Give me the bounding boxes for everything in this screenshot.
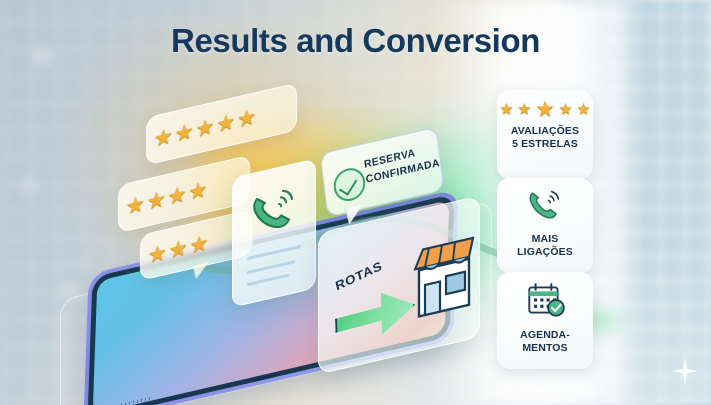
star-icon: ★ — [500, 102, 513, 117]
metric-line-2: 5 ESTRELAS — [497, 138, 593, 151]
metric-line-2: LIGAÇÕES — [497, 246, 593, 259]
metric-line-1: AVALIAÇÕES — [497, 125, 593, 138]
phone-call-icon — [247, 181, 301, 241]
star-icon: ★ — [196, 115, 215, 140]
star-icon: ★ — [168, 183, 187, 208]
slide-canvas: Results and Conversion ★ ★ ★ ★ ★ ★ ★ ★ ★… — [0, 0, 711, 405]
metric-line-1: MAIS — [497, 233, 593, 246]
star-icon: ★ — [577, 102, 590, 117]
reserva-text: RESERVA CONFIRMADA — [363, 141, 440, 188]
star-icon: ★ — [126, 193, 145, 218]
placeholder-line — [247, 274, 289, 287]
phone-call-icon — [525, 187, 565, 223]
calendar-check-icon — [523, 281, 567, 319]
star-icon: ★ — [154, 125, 173, 150]
metric-card-agendamentos[interactable]: AGENDA- MENTOS — [497, 272, 593, 369]
metric-line-1: AGENDA- — [497, 329, 593, 342]
rotas-label: ROTAS — [334, 258, 384, 293]
metric-line-2: MENTOS — [497, 342, 593, 355]
star-icon: ★ — [536, 99, 555, 120]
star-icon: ★ — [169, 236, 188, 261]
star-icon: ★ — [148, 241, 167, 266]
star-icon: ★ — [175, 120, 194, 145]
metric-label: MAIS LIGAÇÕES — [497, 233, 593, 259]
metric-label: AVALIAÇÕES 5 ESTRELAS — [497, 125, 593, 151]
star-icon: ★ — [559, 102, 572, 117]
phone-call-card — [232, 158, 316, 307]
star-icon: ★ — [237, 106, 256, 131]
star-icon: ★ — [216, 110, 235, 135]
star-icon: ★ — [188, 178, 207, 203]
metric-card-avaliacoes[interactable]: ★ ★ ★ ★ ★ AVALIAÇÕES 5 ESTRELAS — [497, 90, 593, 179]
metric-card-ligacoes[interactable]: MAIS LIGAÇÕES — [497, 178, 593, 273]
placeholder-line — [247, 245, 301, 260]
star-icon: ★ — [147, 188, 166, 213]
check-circle-icon — [332, 165, 367, 204]
placeholder-line — [247, 260, 295, 274]
star-icon: ★ — [190, 232, 209, 257]
page-title: Results and Conversion — [0, 22, 711, 60]
star-icon: ★ — [518, 102, 531, 117]
five-stars-icon: ★ ★ ★ ★ ★ — [497, 99, 593, 120]
storefront-icon — [405, 216, 483, 330]
metric-label: AGENDA- MENTOS — [497, 329, 593, 355]
